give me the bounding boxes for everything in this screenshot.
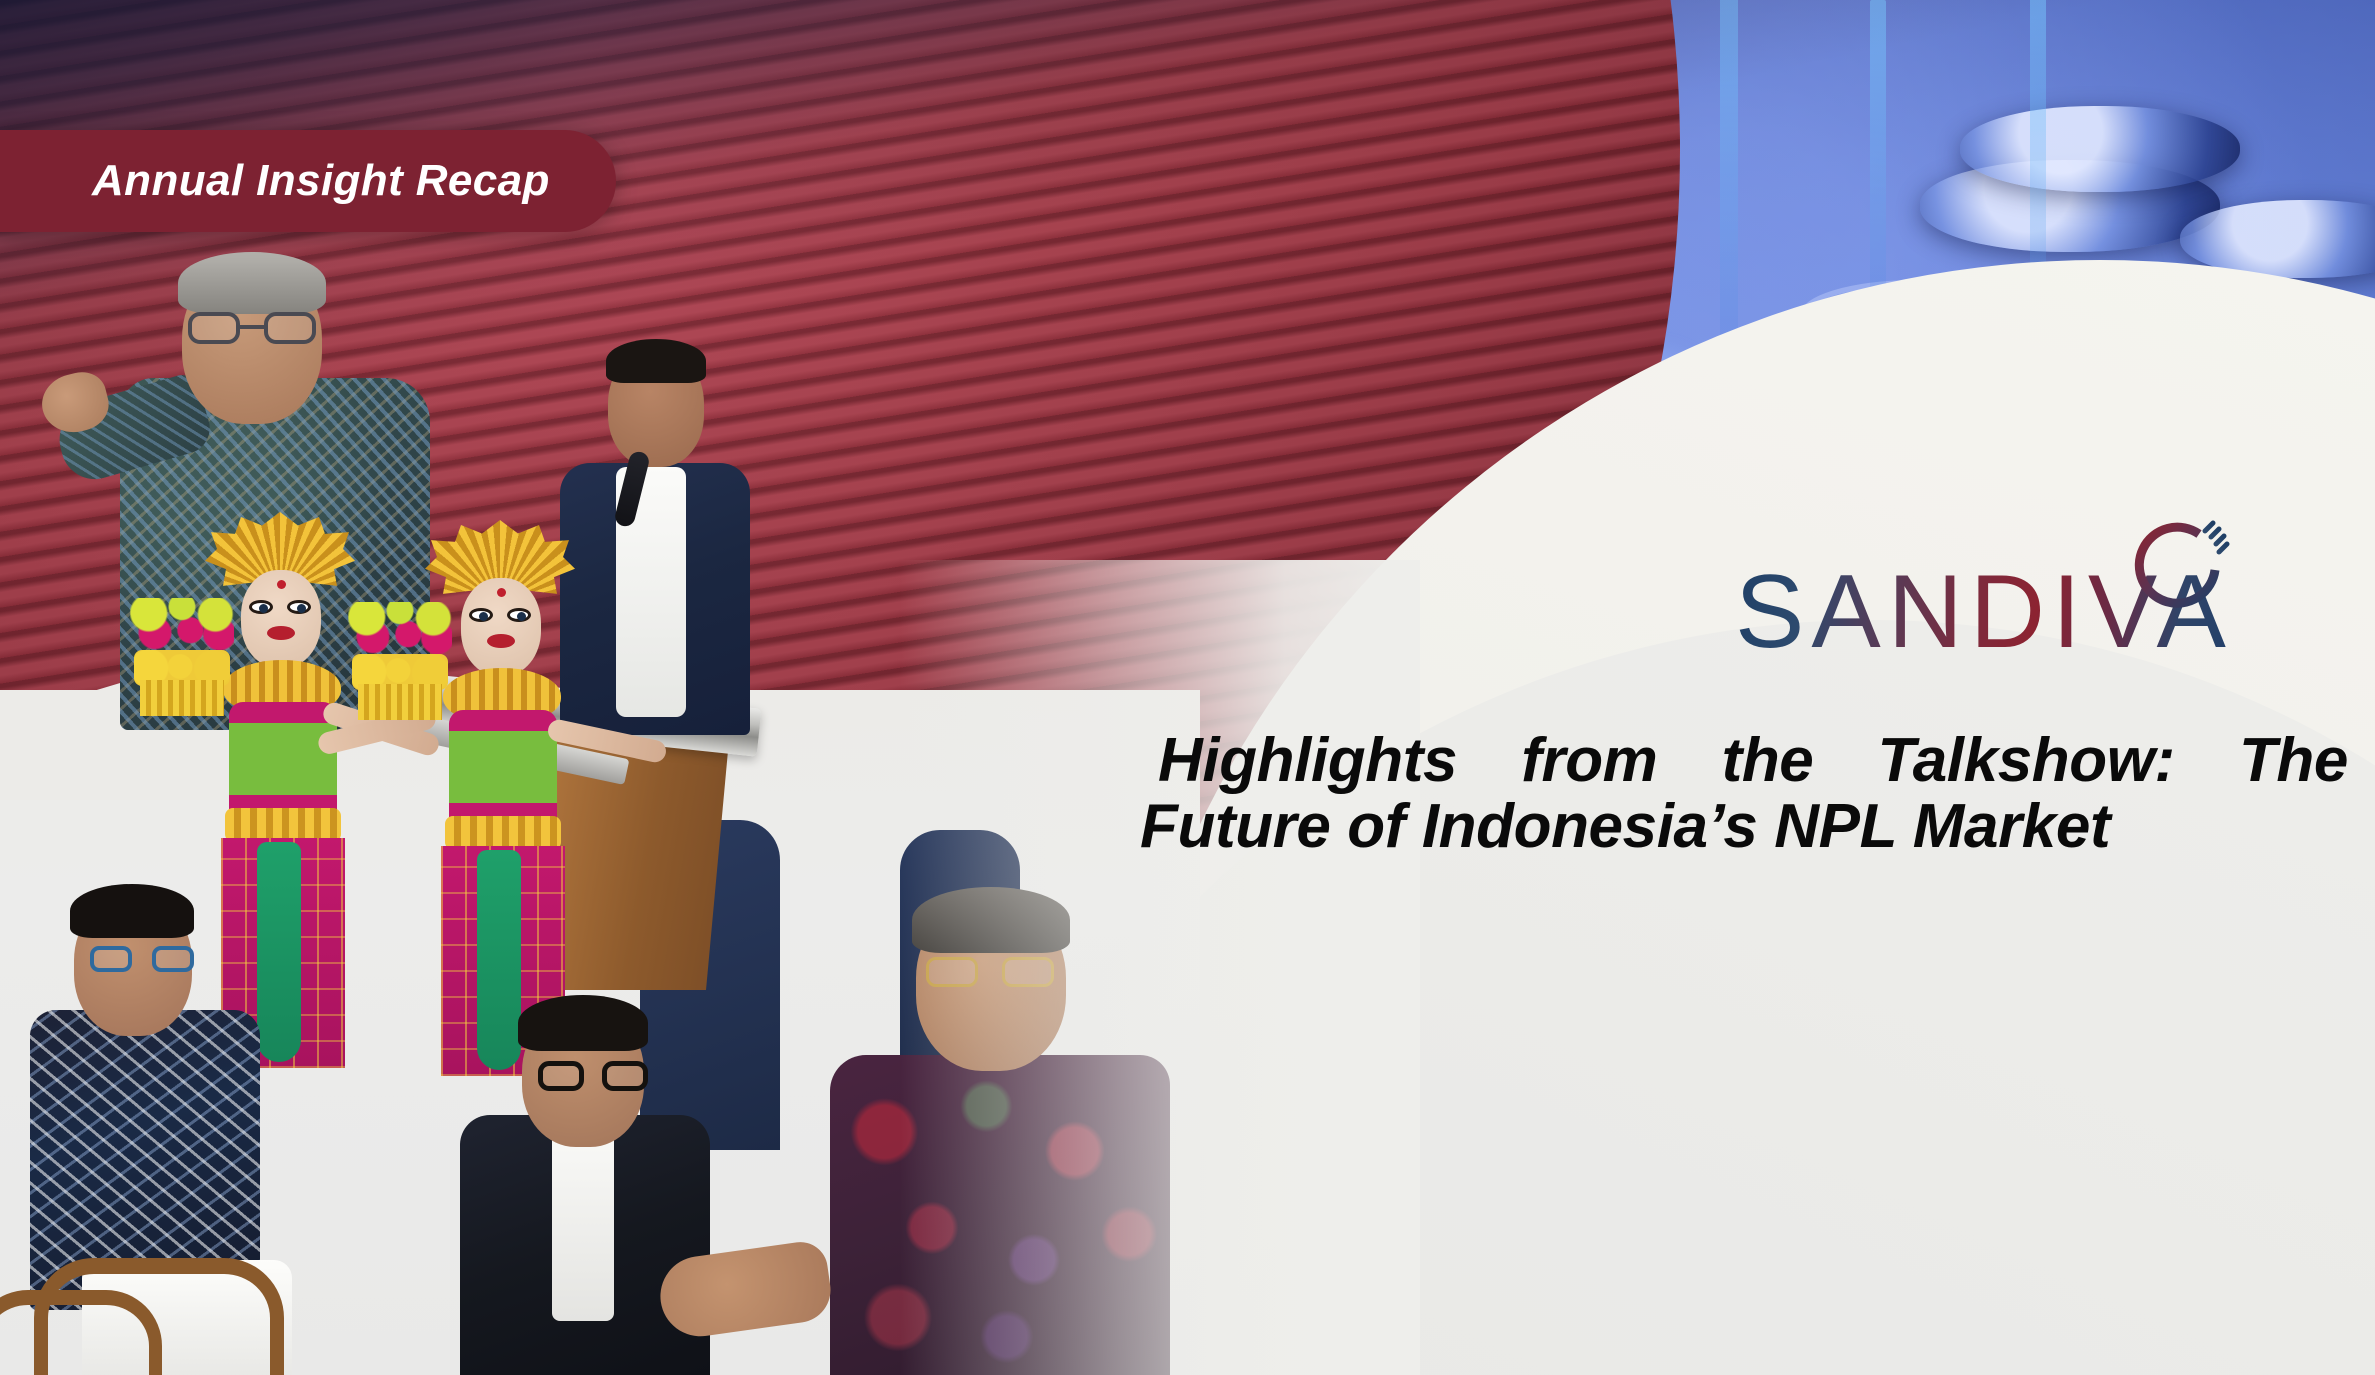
offering-gold-base bbox=[140, 680, 224, 716]
dancer-bindi bbox=[497, 588, 506, 597]
mc-with-microphone bbox=[560, 335, 760, 735]
mc-hair bbox=[606, 339, 706, 383]
person-hair bbox=[518, 995, 648, 1051]
offering-gold-base bbox=[358, 684, 442, 720]
person-hair bbox=[912, 887, 1070, 953]
panelist-hair bbox=[70, 884, 194, 938]
wooden-chair bbox=[0, 1290, 162, 1375]
dancer-eye bbox=[469, 608, 493, 622]
dancer-face bbox=[241, 570, 321, 668]
dancer-eye bbox=[249, 600, 273, 614]
flower-offering-tray bbox=[130, 598, 234, 716]
flower-offering-tray bbox=[348, 602, 452, 720]
seated-panelist bbox=[12, 860, 292, 1375]
gold-rim-glasses bbox=[926, 957, 1054, 987]
dancer-lips bbox=[487, 634, 515, 648]
annual-insight-recap-badge[interactable]: Annual Insight Recap bbox=[0, 130, 616, 232]
dancer-gold-belt bbox=[225, 808, 341, 842]
person-glasses bbox=[538, 1061, 648, 1091]
floral-batik-shirt bbox=[830, 1055, 1170, 1375]
headline-title: Highlights from the Talkshow: The Future… bbox=[1140, 728, 2348, 861]
dancer-lips bbox=[267, 626, 295, 640]
sandiva-logo[interactable]: SANDIVA bbox=[1735, 560, 2233, 664]
handshake-person-right bbox=[830, 885, 1170, 1375]
annual-insight-recap-banner: 80 360 57.0 74 849 64.9 14 411 88.2 bbox=[0, 0, 2375, 1375]
dancer-eye bbox=[507, 608, 531, 622]
speaker-glasses bbox=[188, 312, 316, 344]
sandiva-ring-logomark bbox=[2123, 514, 2231, 622]
white-dress-shirt bbox=[552, 1121, 614, 1321]
dancer-gold-belt bbox=[445, 816, 561, 850]
panelist-glasses bbox=[90, 946, 194, 972]
dancer-bindi bbox=[277, 580, 286, 589]
badge-label: Annual Insight Recap bbox=[92, 156, 550, 206]
dancer-face bbox=[461, 578, 541, 676]
dancer-eye bbox=[287, 600, 311, 614]
speaker-hair bbox=[178, 252, 326, 314]
